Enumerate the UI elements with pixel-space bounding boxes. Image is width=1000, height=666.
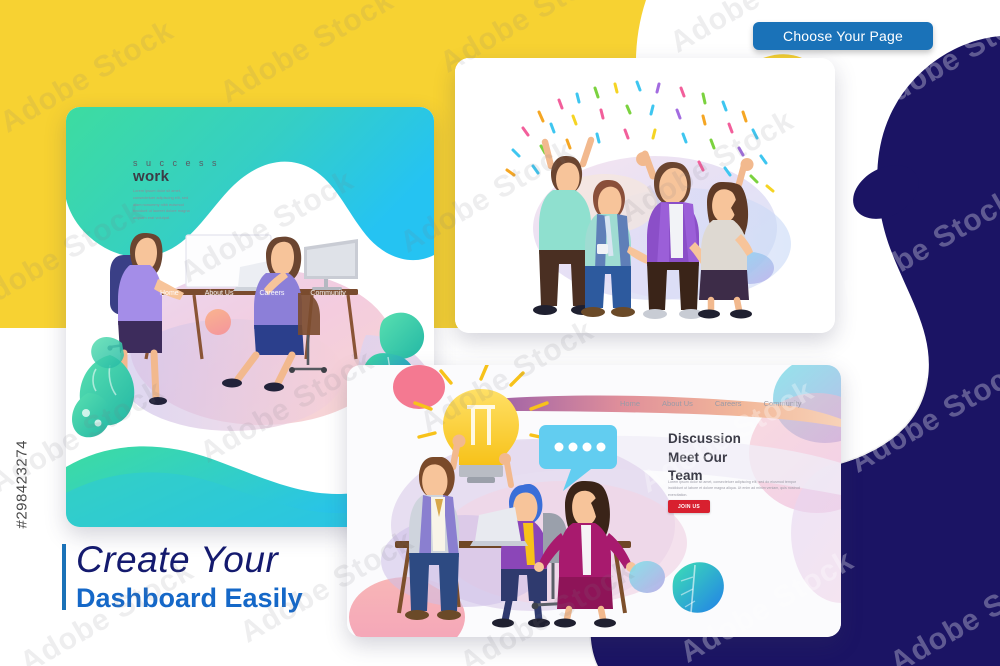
page-headline: Create Your Dashboard Easily: [62, 540, 303, 616]
card1-title: work: [133, 168, 169, 185]
choose-your-page-button[interactable]: Choose Your Page: [753, 22, 933, 50]
card2-illustration: [455, 58, 835, 333]
stock-id-watermark: #298423274: [14, 389, 31, 529]
card3-nav[interactable]: Home About Us Careers Community: [620, 399, 820, 408]
card1-eyebrow: s u c c e s s: [133, 158, 220, 168]
card3-nav-careers[interactable]: Careers: [715, 399, 742, 408]
card3-heading: Discussion Meet Our Team: [668, 430, 741, 486]
card3-nav-community[interactable]: Community: [764, 399, 802, 408]
card-celebration[interactable]: [455, 58, 835, 333]
card3-body-text: Lorem ipsum dolor sit amet, consectetuer…: [668, 479, 800, 498]
card3-nav-about-us[interactable]: About Us: [662, 399, 693, 408]
poster-canvas: s u c c e s s work Lorem ipsum dolor sit…: [0, 0, 1000, 666]
card1-nav-careers[interactable]: Careers: [259, 290, 284, 297]
card3-heading-line1: Discussion: [668, 430, 741, 449]
card1-nav-home[interactable]: Home: [160, 290, 179, 297]
headline-line1: Create Your: [76, 540, 303, 580]
card3-nav-home[interactable]: Home: [620, 399, 640, 408]
card1-body-text: Lorem ipsum dolor sit amet, consectetuer…: [133, 188, 195, 222]
card1-nav-community[interactable]: Community: [310, 290, 345, 297]
headline-line2: Dashboard Easily: [76, 582, 303, 616]
card1-nav-about-us[interactable]: About Us: [205, 290, 234, 297]
card1-nav[interactable]: Home About Us Careers Community: [160, 290, 390, 297]
join-us-button[interactable]: JOIN US: [668, 500, 710, 513]
card3-heading-line2: Meet Our: [668, 449, 741, 468]
